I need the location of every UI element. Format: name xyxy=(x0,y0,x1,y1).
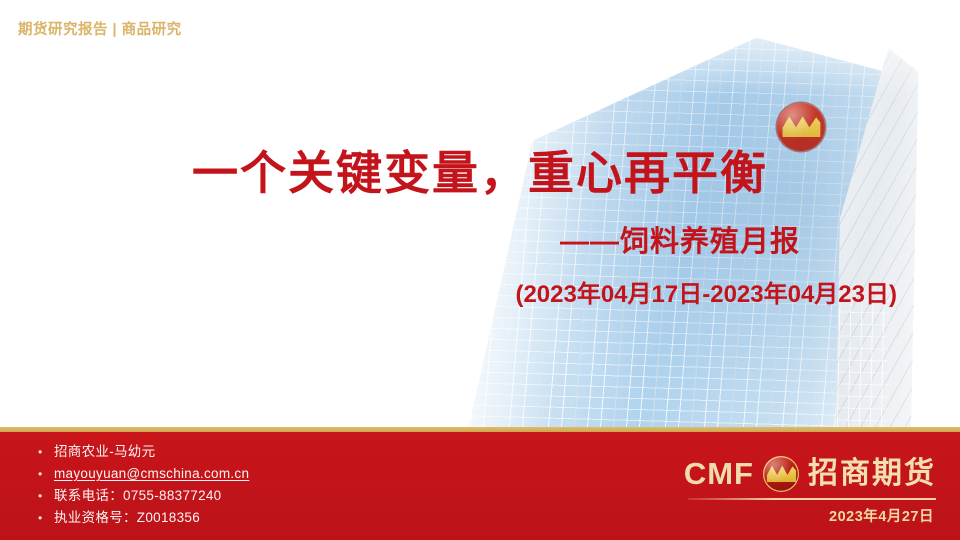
list-item[interactable]: • mayouyuan@cmschina.com.cn xyxy=(38,463,458,485)
adjacent-tower-glazing xyxy=(837,299,890,431)
logo-abbreviation: CMF xyxy=(684,458,754,491)
publish-date: 2023年4月27日 xyxy=(829,505,934,526)
bullet-icon: • xyxy=(38,486,54,507)
report-category-kicker: 期货研究报告 | 商品研究 xyxy=(18,18,182,39)
company-logo: CMF 招商期货 xyxy=(684,452,936,496)
logo-company-name: 招商期货 xyxy=(808,459,936,489)
analyst-email-link[interactable]: mayouyuan@cmschina.com.cn xyxy=(54,463,249,484)
building-logo-icon xyxy=(777,103,825,151)
bullet-icon: • xyxy=(38,464,54,485)
logo-underline-rule xyxy=(688,498,936,500)
list-item: • 执业资格号：Z0018356 xyxy=(38,507,458,529)
presentation-slide: 期货研究报告 | 商品研究 一个关键变量，重心再平衡 ——饲料养殖月报 (202… xyxy=(0,0,960,540)
footer-band: • 招商农业-马幼元 • mayouyuan@cmschina.com.cn •… xyxy=(0,432,960,540)
bullet-icon: • xyxy=(38,442,54,463)
analyst-name: 招商农业-马幼元 xyxy=(54,441,155,462)
report-date-range: (2023年04月17日-2023年04月23日) xyxy=(0,274,960,309)
hero-background-photo xyxy=(0,0,960,431)
analyst-license-number: 执业资格号：Z0018356 xyxy=(54,507,200,528)
analyst-phone: 联系电话：0755-88377240 xyxy=(54,485,222,506)
contact-list: • 招商农业-马幼元 • mayouyuan@cmschina.com.cn •… xyxy=(38,441,458,529)
page-subtitle: ——饲料养殖月报 xyxy=(0,218,960,260)
page-title: 一个关键变量，重心再平衡 xyxy=(0,148,960,199)
emblem-gloss xyxy=(763,456,799,492)
cmf-disc-emblem-icon xyxy=(763,456,799,492)
list-item: • 招商农业-马幼元 xyxy=(38,441,458,463)
bullet-icon: • xyxy=(38,508,54,529)
list-item: • 联系电话：0755-88377240 xyxy=(38,485,458,507)
